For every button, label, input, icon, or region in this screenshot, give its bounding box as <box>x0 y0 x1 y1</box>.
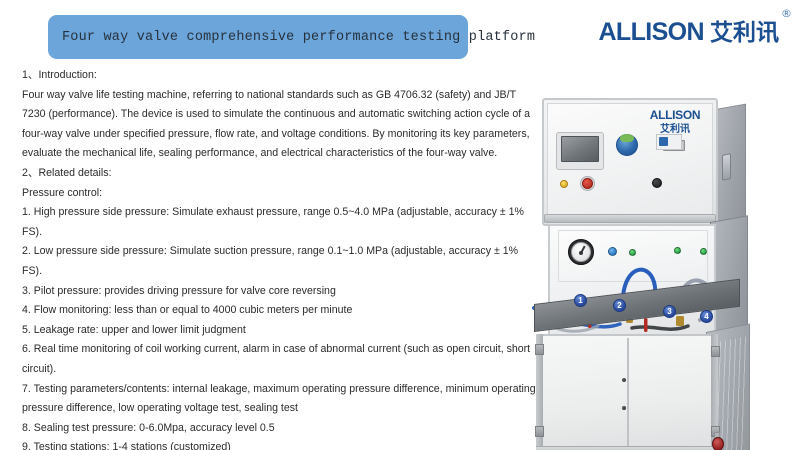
spec-item: 8. Sealing test pressure: 0-6.0Mpa, accu… <box>22 419 537 439</box>
cabinet-door-latch <box>622 406 626 410</box>
brand-name-cjk: 艾利讯 <box>710 22 779 45</box>
spec-item: 9. Testing stations: 1-4 stations (custo… <box>22 438 537 450</box>
cabinet-bottom-rail <box>536 446 718 450</box>
cabinet-hinge <box>535 426 544 437</box>
spec-item: 3. Pilot pressure: provides driving pres… <box>22 282 537 302</box>
cabinet-door-split <box>627 338 629 450</box>
cabinet-hinge <box>535 344 544 355</box>
cabinet-door-latch <box>622 378 626 382</box>
machine-photo: ALLISON 艾利讯 <box>528 96 800 444</box>
section-1-heading: 1、Introduction: <box>22 66 532 86</box>
document-page: Four way valve comprehensive performance… <box>0 0 800 450</box>
spec-item: 2. Low pressure side pressure: Simulate … <box>22 242 537 281</box>
spec-item: 7. Testing parameters/contents: internal… <box>22 380 537 419</box>
section-2-heading: 2、Related details: <box>22 164 532 184</box>
spec-item: 1. High pressure side pressure: Simulate… <box>22 203 537 242</box>
station-badge-3: 3 <box>663 305 676 318</box>
spec-item: 6. Real time monitoring of coil working … <box>22 340 537 379</box>
station-badge-1: 1 <box>574 294 587 307</box>
pressure-control-label: Pressure control: <box>22 184 532 204</box>
spec-item: 5. Leakage rate: upper and lower limit j… <box>22 321 537 341</box>
brand-name-latin: ALLISON <box>598 20 704 45</box>
brand-logo: ALLISON 艾利讯 ® <box>598 20 792 45</box>
station-badge-2: 2 <box>613 299 626 312</box>
station-badge-4: 4 <box>700 310 713 323</box>
page-title: Four way valve comprehensive performance… <box>62 30 535 45</box>
cabinet-hinge <box>711 346 720 357</box>
registered-trademark-icon: ® <box>781 8 792 19</box>
section-1-body: Four way valve life testing machine, ref… <box>22 86 537 164</box>
title-banner: Four way valve comprehensive performance… <box>48 15 468 59</box>
caster-wheel <box>712 437 724 450</box>
spec-item: 4. Flow monitoring: less than or equal t… <box>22 301 537 321</box>
